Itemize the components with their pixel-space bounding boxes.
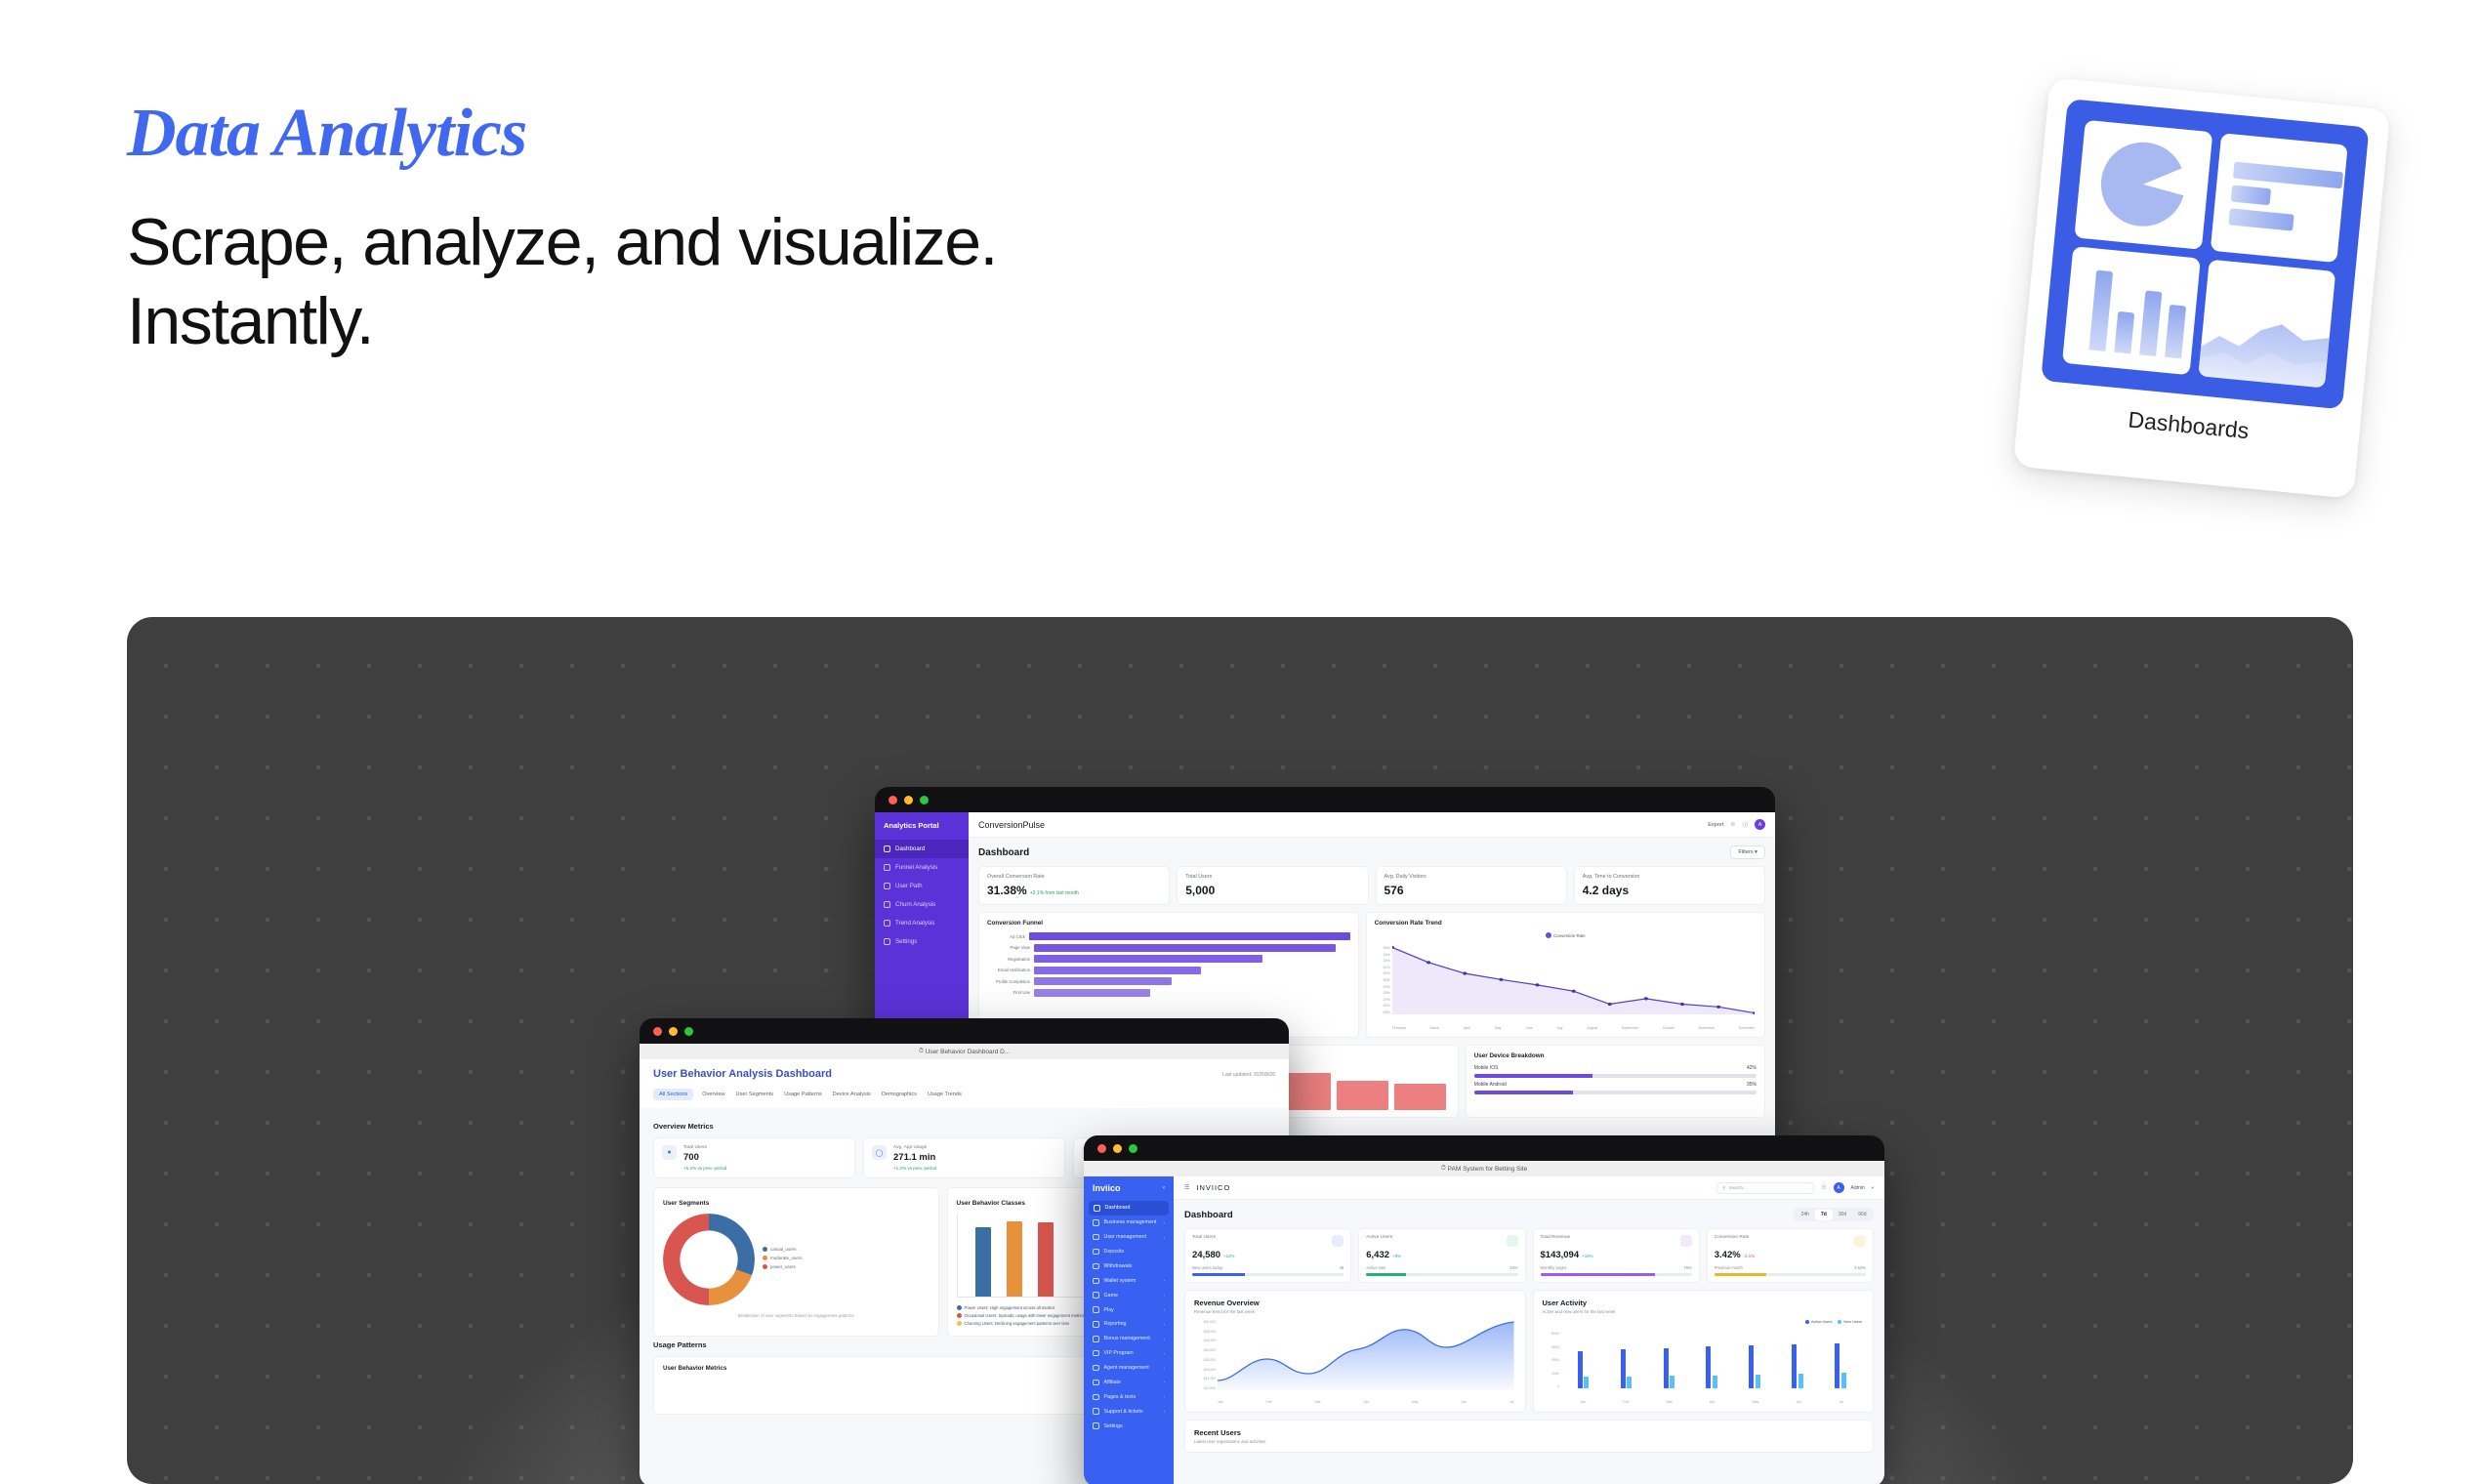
search-icon: ⚲ <box>1722 1185 1725 1191</box>
filters-button[interactable]: Filters ▾ <box>1730 845 1765 859</box>
kpi-card: Conversion Rate 3.42%-2.1% Previous mont… <box>1707 1228 1874 1283</box>
gear-icon <box>884 938 890 945</box>
revenue-icon <box>1680 1235 1692 1247</box>
chevron-right-icon: › <box>1164 1322 1166 1327</box>
area-chart-icon <box>2198 259 2335 388</box>
kpi-label: Avg. App Usage <box>893 1145 936 1150</box>
chevron-right-icon: › <box>1164 1366 1166 1371</box>
users-icon <box>1093 1234 1099 1241</box>
panel-title: Conversion Funnel <box>987 920 1350 927</box>
bell-icon[interactable]: ☉ <box>1730 822 1735 828</box>
panel-subtitle: Active and new users for the last week <box>1543 1309 1865 1314</box>
trend-chart: 35%34% 33%32% 31%30% 29%28% 27%26% 25% <box>1375 940 1757 1030</box>
sidebar-brand: Analytics Portal <box>875 821 969 840</box>
topbar-actions: Export ☉ ⓘ A <box>1708 819 1765 830</box>
menu-icon[interactable]: ☰ <box>1184 1184 1189 1191</box>
briefcase-icon <box>1093 1219 1099 1226</box>
chevron-right-icon: › <box>1164 1278 1166 1283</box>
crown-icon <box>1093 1350 1099 1357</box>
tab-user-segments[interactable]: User Segments <box>734 1089 776 1100</box>
page-root: Data Analytics Scrape, analyze, and visu… <box>0 0 2480 1484</box>
hero-section: Data Analytics Scrape, analyze, and visu… <box>127 98 1689 362</box>
kpi-value: 5,000 <box>1185 884 1359 897</box>
page-header: Last updated: 2025/8/26 User Behavior An… <box>640 1059 1289 1108</box>
app-topbar: ConversionPulse Export ☉ ⓘ A <box>969 812 1775 838</box>
sidebar-item-support-tickets[interactable]: Support & tickets› <box>1084 1404 1174 1419</box>
vertical-bar-chart-icon <box>2062 246 2200 375</box>
chevron-right-icon: › <box>1164 1307 1166 1312</box>
page-header: Dashboard Filters ▾ <box>978 845 1765 859</box>
kpi-value: $143,094 <box>1541 1250 1580 1260</box>
sidebar-item-dashboard[interactable]: Dashboard <box>875 840 969 858</box>
sidebar-item-affiliate[interactable]: Affiliate› <box>1084 1376 1174 1390</box>
page-header: Dashboard 24h 7d 30d 90d <box>1184 1208 1874 1221</box>
kpi-change: +12% <box>1223 1254 1234 1258</box>
sidebar-item-vip-program[interactable]: VIP Program› <box>1084 1346 1174 1361</box>
progress-bar <box>1192 1273 1343 1276</box>
browser-tab[interactable]: ⏱ User Behavior Dashboard D... <box>640 1044 1289 1059</box>
panel-subtitle: Latest user registrations and activities <box>1194 1439 1864 1444</box>
deposit-icon <box>1093 1249 1099 1256</box>
kpi-label: Active Users <box>1366 1235 1392 1240</box>
dashboards-card-label: Dashboards <box>2037 398 2340 454</box>
minimize-icon[interactable] <box>1113 1144 1122 1153</box>
recent-users-panel: Recent Users Latest user registrations a… <box>1184 1420 1874 1453</box>
app-topbar: ☰ INVIICO ⚲Search... ☉ A Admin ▾ <box>1174 1176 1884 1200</box>
conversion-icon <box>1854 1235 1866 1247</box>
dashboards-grid-icon <box>2041 99 2369 409</box>
tab-usage-patterns[interactable]: Usage Patterns <box>782 1089 824 1100</box>
chevron-right-icon: › <box>1164 1409 1166 1414</box>
sidebar-item-wallet-system[interactable]: Wallet system› <box>1084 1273 1174 1288</box>
users-icon <box>1332 1235 1343 1247</box>
kpi-card: Total Users 24,580+12% New users today48 <box>1184 1228 1351 1283</box>
avatar[interactable]: A <box>1834 1182 1844 1193</box>
panel-title: User Device Breakdown <box>1474 1052 1757 1059</box>
device-row: Mobile IOS42% <box>1474 1065 1757 1071</box>
panel-title: Revenue Overview <box>1194 1298 1516 1307</box>
kpi-card: Avg. Daily Visitors 576 <box>1376 866 1567 905</box>
avatar[interactable]: A <box>1755 819 1765 830</box>
kpi-value: 24,580 <box>1192 1250 1220 1260</box>
kpi-card: Overall Conversion Rate 31.38%+2.1% from… <box>978 866 1170 905</box>
chart-legend: casual_users moderate_users power_users <box>763 1247 803 1273</box>
sidebar-item-settings[interactable]: Settings <box>875 932 969 951</box>
kpi-card: Total Users 5,000 <box>1177 866 1368 905</box>
funnel-icon <box>884 864 890 871</box>
dashboard-body: Dashboard 24h 7d 30d 90d Total Users <box>1174 1200 1884 1461</box>
sidebar-item-user-management[interactable]: User management› <box>1084 1230 1174 1245</box>
hero-headline: Scrape, analyze, and visualize. Instantl… <box>127 203 1689 362</box>
headline-line-1: Scrape, analyze, and visualize. <box>127 203 1689 283</box>
y-axis: 35%34% 33%32% 31%30% 29%28% 27%26% 25% <box>1375 946 1390 1014</box>
progress-bar <box>1474 1091 1757 1094</box>
maximize-icon[interactable] <box>684 1027 693 1036</box>
sidebar-item-agent-management[interactable]: Agent management› <box>1084 1361 1174 1376</box>
y-axis: $30,000$25,000 $24,000$20,000 $18,000$16… <box>1194 1320 1216 1390</box>
bar-chart-icon <box>884 920 890 927</box>
charts-row: Revenue Overview Revenue trend for the l… <box>1184 1290 1874 1413</box>
chart-caption: Breakdown of user segments based on enga… <box>663 1313 930 1318</box>
chevron-right-icon: › <box>1164 1351 1166 1356</box>
tab-demographics[interactable]: Demographics <box>880 1089 919 1100</box>
donut-graphic <box>663 1214 755 1305</box>
sidebar-item-play[interactable]: Play› <box>1084 1302 1174 1317</box>
kpi-card: Total Revenue $143,094+15% Monthly targe… <box>1533 1228 1700 1283</box>
user-activity-chart: Active Users New Users 80006000 40002000… <box>1543 1320 1865 1404</box>
section-tabs: All Sections Overview User Segments Usag… <box>653 1089 1275 1108</box>
sidebar-item-pages-texts[interactable]: Pages & texts› <box>1084 1389 1174 1404</box>
titlebar <box>1084 1135 1884 1161</box>
tab-usage-trends[interactable]: Usage Trends <box>926 1089 964 1100</box>
trend-plot <box>1392 946 1755 1014</box>
kpi-card: ◯ Avg. App Usage 271.1 min +1.2% vs prev… <box>863 1137 1065 1178</box>
range-7d[interactable]: 7d <box>1815 1210 1833 1220</box>
conversion-trend-panel: Conversion Rate Trend Conversion Rate 35… <box>1366 912 1765 1038</box>
progress-bar <box>1474 1074 1757 1078</box>
chevron-right-icon: › <box>1164 1293 1166 1298</box>
kpi-label: Conversion Rate <box>1715 1235 1750 1240</box>
chart-legend: Active Users New Users <box>1805 1320 1862 1324</box>
chevron-right-icon: › <box>1164 1337 1166 1341</box>
kpi-change: +8% <box>1392 1254 1401 1258</box>
titlebar <box>640 1018 1289 1044</box>
panel-title: Recent Users <box>1194 1428 1864 1437</box>
laptop-window-inviico: ⏱ PAM System for Betting Site Inviico‹ D… <box>1084 1135 1884 1484</box>
chevron-down-icon[interactable]: ▾ <box>1872 1185 1874 1191</box>
tab-all-sections[interactable]: All Sections <box>653 1089 693 1100</box>
device-breakdown-panel: User Device Breakdown Mobile IOS42% Mobi… <box>1466 1045 1765 1118</box>
affiliate-icon <box>1093 1380 1099 1386</box>
kpi-delta: +5.2% vs prev. period <box>683 1166 726 1171</box>
search-input[interactable]: ⚲Search... <box>1716 1182 1814 1194</box>
kpi-delta: +1.2% vs prev. period <box>893 1166 936 1171</box>
notification-bell-icon[interactable]: ☉ <box>1821 1184 1826 1191</box>
chevron-right-icon: › <box>1164 1220 1166 1225</box>
browser-tab[interactable]: ⏱ PAM System for Betting Site <box>1084 1161 1884 1176</box>
home-icon <box>884 845 890 852</box>
maximize-icon[interactable] <box>920 796 929 804</box>
sidebar-item-trend-analysis[interactable]: Trend Analysis <box>875 914 969 932</box>
kpi-value: 576 <box>1385 884 1558 897</box>
progress-bar <box>1366 1273 1517 1276</box>
kpi-delta: +2.1% from last month <box>1030 890 1079 896</box>
progress-bar <box>1541 1273 1692 1276</box>
sidebar-brand: Inviico‹ <box>1084 1183 1174 1201</box>
app-logo: INVIICO <box>1196 1183 1230 1192</box>
sidebar-item-settings[interactable]: Settings <box>1084 1419 1174 1433</box>
kpi-label: Total Users <box>1185 874 1359 880</box>
kpi-value: 271.1 min <box>893 1152 936 1163</box>
minimize-icon[interactable] <box>669 1027 678 1036</box>
path-icon <box>884 883 890 889</box>
collapse-icon[interactable]: ‹ <box>1163 1185 1165 1191</box>
range-90d[interactable]: 90d <box>1852 1210 1872 1220</box>
kpi-card: ● Total Users 700 +5.2% vs prev. period <box>653 1137 855 1178</box>
range-selector: 24h 7d 30d 90d <box>1794 1208 1874 1221</box>
clock-icon: ◯ <box>872 1145 887 1160</box>
sidebar-item-game[interactable]: Game› <box>1084 1288 1174 1302</box>
y-axis: 80006000 40002000 0 <box>1543 1332 1559 1388</box>
kpi-value: 31.38%+2.1% from last month <box>987 884 1161 897</box>
gear-icon <box>1093 1422 1099 1429</box>
revenue-plot <box>1218 1320 1514 1390</box>
kpi-label: Overall Conversion Rate <box>987 874 1161 880</box>
panel-subtitle: Revenue trend for the last week <box>1194 1309 1516 1314</box>
sidebar-nav: Dashboard Funnel Analysis User Path Chur… <box>875 840 969 951</box>
donut-chart: casual_users moderate_users power_users <box>663 1214 930 1305</box>
sidebar-item-funnel-analysis[interactable]: Funnel Analysis <box>875 858 969 877</box>
pages-icon <box>1093 1394 1099 1401</box>
gift-icon <box>1093 1336 1099 1342</box>
help-icon[interactable]: ⓘ <box>1742 821 1748 829</box>
export-button[interactable]: Export <box>1708 822 1723 828</box>
sidebar: Inviico‹ Dashboard Business management› … <box>1084 1176 1174 1484</box>
kpi-label: Total Users <box>1192 1235 1216 1240</box>
user-segments-panel: User Segments casual_users moderate_user… <box>653 1187 939 1337</box>
panel-title: User Activity <box>1543 1298 1865 1307</box>
user-name[interactable]: Admin <box>1851 1185 1865 1191</box>
kpi-value: 4.2 days <box>1583 884 1757 897</box>
kpi-value: 3.42% <box>1715 1250 1741 1260</box>
panel-title: Conversion Rate Trend <box>1375 920 1757 927</box>
x-axis: JanFeb MarApr MayJun Jul <box>1562 1400 1863 1404</box>
section-title-overview: Overview Metrics <box>653 1122 1275 1131</box>
sidebar-item-user-path[interactable]: User Path <box>875 877 969 895</box>
page-title: User Behavior Analysis Dashboard <box>653 1068 1275 1080</box>
kpi-change: -2.1% <box>1744 1254 1755 1258</box>
pie-chart-icon <box>2074 120 2211 249</box>
page-title: Dashboard <box>1184 1210 1233 1220</box>
x-axis: JanFebMar AprMayJun Jul <box>1218 1400 1514 1404</box>
report-icon <box>1093 1321 1099 1328</box>
home-icon <box>1094 1205 1100 1212</box>
screen-content: ⏱ PAM System for Betting Site Inviico‹ D… <box>1084 1161 1884 1484</box>
ticket-icon <box>1093 1408 1099 1415</box>
funnel-chart: Ad Click Page View Registration Email Ve… <box>987 932 1350 997</box>
app-title: ConversionPulse <box>978 820 1045 830</box>
tab-device-analysis[interactable]: Device Analysis <box>831 1089 873 1100</box>
device-row: Mobile Android35% <box>1474 1082 1757 1088</box>
user-activity-panel: User Activity Active and new users for t… <box>1533 1290 1875 1413</box>
bars-plot <box>1562 1332 1863 1388</box>
sidebar-item-deposits[interactable]: Deposits <box>1084 1245 1174 1259</box>
maximize-icon[interactable] <box>1129 1144 1137 1153</box>
close-icon[interactable] <box>1097 1144 1106 1153</box>
kpi-label: Total Revenue <box>1541 1235 1571 1240</box>
withdrawal-icon <box>1093 1263 1099 1270</box>
page-title: Dashboard <box>978 847 1029 858</box>
range-30d[interactable]: 30d <box>1833 1210 1852 1220</box>
user-icon: ● <box>662 1145 677 1160</box>
titlebar <box>875 787 1775 812</box>
hero-eyebrow: Data Analytics <box>127 98 1689 170</box>
last-updated: Last updated: 2025/8/26 <box>1222 1072 1275 1078</box>
play-icon <box>1093 1306 1099 1313</box>
kpi-label: Total Users <box>683 1145 726 1150</box>
progress-bar <box>1715 1273 1866 1276</box>
app-shell: Inviico‹ Dashboard Business management› … <box>1084 1176 1884 1484</box>
kpi-row: Total Users 24,580+12% New users today48… <box>1184 1228 1874 1283</box>
kpi-change: +15% <box>1582 1254 1592 1258</box>
agent-icon <box>1093 1365 1099 1372</box>
game-icon <box>1093 1292 1099 1298</box>
sidebar-item-bonus-management[interactable]: Bonus management› <box>1084 1332 1174 1346</box>
panel-title: User Segments <box>663 1200 930 1207</box>
kpi-row: Overall Conversion Rate 31.38%+2.1% from… <box>978 866 1765 905</box>
kpi-card: Active Users 6,432+8% Active rate26% <box>1358 1228 1525 1283</box>
x-axis: FebruaryMarchApril MayJuneJuly AugustSep… <box>1392 1026 1755 1030</box>
chart-legend: Conversion Rate <box>1375 932 1757 938</box>
users-icon <box>884 901 890 908</box>
sidebar-item-churn-analysis[interactable]: Churn Analysis <box>875 895 969 914</box>
chevron-right-icon: › <box>1164 1235 1166 1240</box>
active-user-icon <box>1507 1235 1518 1247</box>
close-icon[interactable] <box>889 796 897 804</box>
revenue-area-chart: $30,000$25,000 $24,000$20,000 $18,000$16… <box>1194 1320 1516 1404</box>
horizontal-bar-chart-icon <box>2210 133 2347 262</box>
sidebar-item-reporting[interactable]: Reporting› <box>1084 1317 1174 1332</box>
sidebar-item-withdrawals[interactable]: Withdrawals <box>1084 1259 1174 1274</box>
minimize-icon[interactable] <box>904 796 913 804</box>
tab-overview[interactable]: Overview <box>700 1089 726 1100</box>
kpi-label: Avg. Daily Visitors <box>1385 874 1558 880</box>
chevron-right-icon: › <box>1164 1394 1166 1399</box>
sidebar-item-dashboard[interactable]: Dashboard <box>1089 1201 1169 1216</box>
range-24h[interactable]: 24h <box>1796 1210 1815 1220</box>
kpi-value: 700 <box>683 1152 726 1163</box>
chevron-right-icon: › <box>1164 1380 1166 1384</box>
dashboards-card[interactable]: Dashboards <box>2013 77 2391 499</box>
revenue-overview-panel: Revenue Overview Revenue trend for the l… <box>1184 1290 1526 1413</box>
kpi-label: Avg. Time to Conversion <box>1583 874 1757 880</box>
kpi-card: Avg. Time to Conversion 4.2 days <box>1574 866 1765 905</box>
dashboards-card-wrapper: Dashboards <box>2011 68 2402 508</box>
main-area: ☰ INVIICO ⚲Search... ☉ A Admin ▾ Dashboa… <box>1174 1176 1884 1484</box>
kpi-value: 6,432 <box>1366 1250 1389 1260</box>
close-icon[interactable] <box>653 1027 662 1036</box>
sidebar-item-business-management[interactable]: Business management› <box>1084 1216 1174 1230</box>
wallet-icon <box>1093 1278 1099 1285</box>
headline-line-2: Instantly. <box>127 282 1689 362</box>
